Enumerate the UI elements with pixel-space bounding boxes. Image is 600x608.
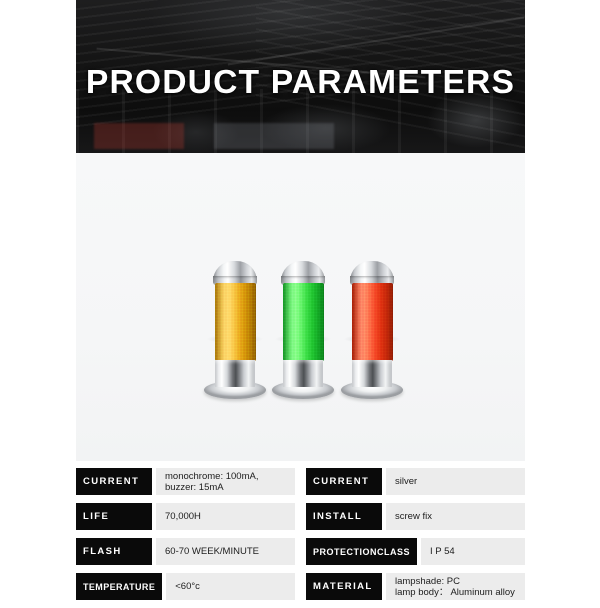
table-row: LIFE 70,000H INSTALL screw fix <box>76 503 525 530</box>
spec-key-current: CURRENT <box>76 468 152 495</box>
lampshade-yellow <box>215 283 256 361</box>
spec-value-line: silver <box>395 476 525 487</box>
spec-value-install: screw fix <box>386 503 525 530</box>
spec-cell-left: LIFE 70,000H <box>76 503 301 530</box>
spec-cell-right: MATERIAL lampshade: PC lamp body： Alumin… <box>301 573 525 600</box>
chrome-base-cylinder <box>215 360 255 387</box>
spec-value-flash: 60-70 WEEK/MINUTE <box>156 538 295 565</box>
spec-value-line: <60°c <box>175 581 295 592</box>
page-title: PRODUCT PARAMETERS <box>76 62 525 102</box>
spec-value-line: lampshade: PC <box>395 576 525 587</box>
spec-value-life: 70,000H <box>156 503 295 530</box>
lampshade-green <box>283 283 324 361</box>
spec-cell-right: INSTALL screw fix <box>301 503 525 530</box>
factory-machines-decoration <box>94 123 394 149</box>
spec-value-line: 70,000H <box>165 511 295 522</box>
spec-value-color: silver <box>386 468 525 495</box>
specification-table: CURRENT monochrome: 100mA, buzzer: 15mA … <box>76 468 525 608</box>
table-row: TEMPERATURE <60°c MATERIAL lampshade: PC… <box>76 573 525 600</box>
spec-value-line: buzzer: 15mA <box>165 482 295 493</box>
spec-key-current-right: CURRENT <box>306 468 382 495</box>
lamp-green <box>271 261 335 399</box>
spec-key-flash: FLASH <box>76 538 152 565</box>
table-row: FLASH 60-70 WEEK/MINUTE PROTECTION CLASS… <box>76 538 525 565</box>
lampshade-shading <box>283 283 324 361</box>
spec-key-line: PROTECTION <box>313 547 377 557</box>
chrome-base-cylinder <box>283 360 323 387</box>
hero-banner: PRODUCT PARAMETERS <box>76 0 525 153</box>
spec-value-line: lamp body： Aluminum alloy <box>395 587 525 598</box>
product-image-area <box>76 153 525 461</box>
spec-value-current: monochrome: 100mA, buzzer: 15mA <box>156 468 295 495</box>
product-page: PRODUCT PARAMETERS <box>76 0 525 600</box>
spec-value-line: screw fix <box>395 511 525 522</box>
spec-key-protection-class: PROTECTION CLASS <box>306 538 417 565</box>
lampshade-red <box>352 283 393 361</box>
chrome-base-cylinder <box>352 360 392 387</box>
chrome-dome-cap <box>350 261 394 285</box>
table-row: CURRENT monochrome: 100mA, buzzer: 15mA … <box>76 468 525 495</box>
lamp-yellow <box>203 261 267 399</box>
lampshade-shading <box>215 283 256 361</box>
spec-value-line: 60-70 WEEK/MINUTE <box>165 546 295 557</box>
spec-cell-left: CURRENT monochrome: 100mA, buzzer: 15mA <box>76 468 301 495</box>
spec-key-temperature: TEMPERATURE <box>76 573 162 600</box>
spec-value-temperature: <60°c <box>166 573 295 600</box>
chrome-dome-cap <box>281 261 325 285</box>
spec-key-install: INSTALL <box>306 503 382 530</box>
lamp-red <box>340 261 404 399</box>
spec-value-protection-class: I P 54 <box>421 538 525 565</box>
spec-cell-left: TEMPERATURE <60°c <box>76 573 301 600</box>
spec-value-line: I P 54 <box>430 546 525 557</box>
spec-key-material: MATERIAL <box>306 573 382 600</box>
spec-value-line: monochrome: 100mA, <box>165 471 295 482</box>
lampshade-shading <box>352 283 393 361</box>
spec-cell-right: PROTECTION CLASS I P 54 <box>301 538 525 565</box>
spec-cell-left: FLASH 60-70 WEEK/MINUTE <box>76 538 301 565</box>
spec-key-life: LIFE <box>76 503 152 530</box>
spec-cell-right: CURRENT silver <box>301 468 525 495</box>
spec-value-material: lampshade: PC lamp body： Aluminum alloy <box>386 573 525 600</box>
chrome-dome-cap <box>213 261 257 285</box>
spec-key-line: CLASS <box>377 547 410 557</box>
